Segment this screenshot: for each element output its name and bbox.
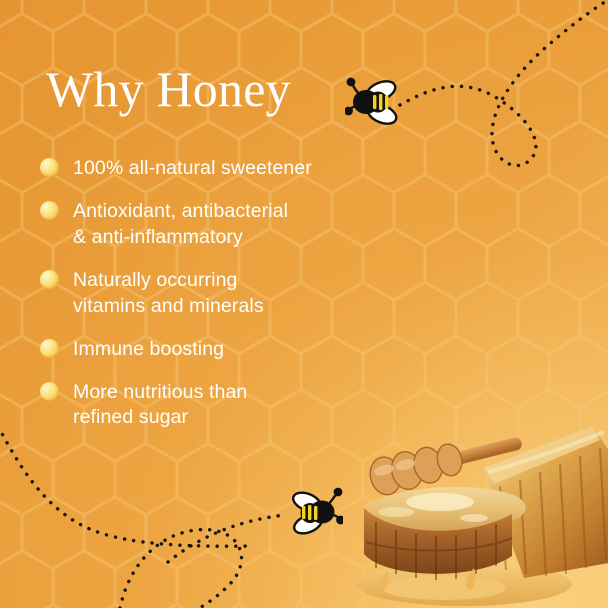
list-item-label: Antioxidant, antibacterial & anti-inflam… bbox=[73, 199, 288, 251]
why-honey-poster: Why Honey bbox=[0, 0, 608, 608]
honey-drop-bullet-icon bbox=[40, 270, 59, 289]
honey-drop-bullet-icon bbox=[40, 201, 59, 220]
list-item-label: Immune boosting bbox=[73, 337, 224, 363]
list-item-label: More nutritious than refined sugar bbox=[73, 380, 247, 432]
list-item: More nutritious than refined sugar bbox=[40, 380, 400, 432]
honey-drop-bullet-icon bbox=[40, 339, 59, 358]
list-item-label: Naturally occurring vitamins and mineral… bbox=[73, 268, 264, 320]
list-item: Immune boosting bbox=[40, 337, 400, 363]
list-item-label: 100% all-natural sweetener bbox=[73, 156, 312, 182]
benefits-list: 100% all-natural sweetener Antioxidant, … bbox=[40, 156, 400, 431]
page-title: Why Honey bbox=[46, 64, 291, 114]
honey-drop-bullet-icon bbox=[40, 158, 59, 177]
list-item: Naturally occurring vitamins and mineral… bbox=[40, 268, 400, 320]
list-item: 100% all-natural sweetener bbox=[40, 156, 400, 182]
honeycomb-and-dipper-photo bbox=[324, 402, 608, 608]
bee-icon bbox=[345, 74, 403, 130]
list-item: Antioxidant, antibacterial & anti-inflam… bbox=[40, 199, 400, 251]
bee-icon bbox=[287, 486, 343, 540]
honey-drop-bullet-icon bbox=[40, 382, 59, 401]
title-row: Why Honey bbox=[46, 64, 291, 114]
